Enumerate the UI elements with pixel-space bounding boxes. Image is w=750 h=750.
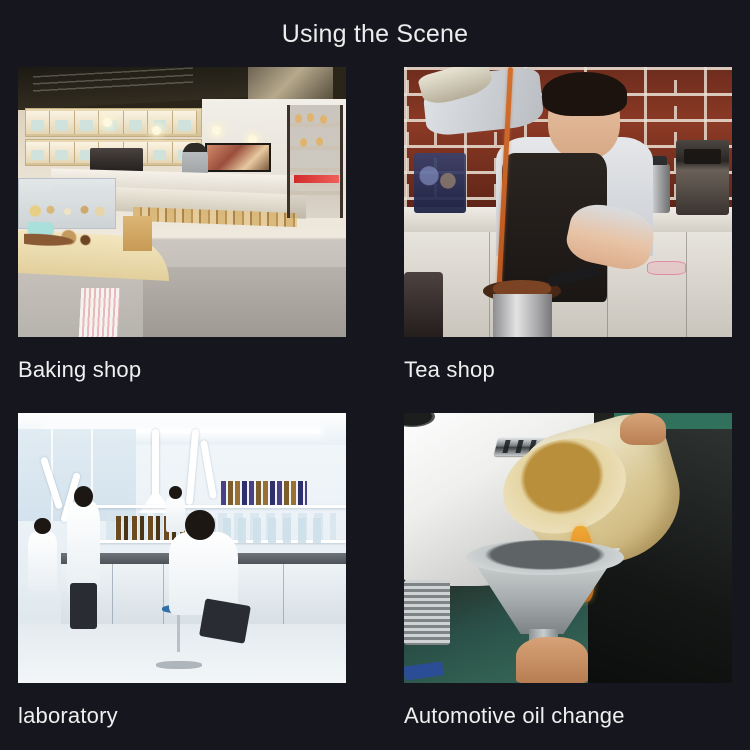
- researcher-legs: [70, 583, 96, 629]
- metal-canister: [493, 294, 552, 337]
- researcher-lab-coat: [28, 532, 58, 591]
- scene-label-laboratory: laboratory: [18, 703, 346, 729]
- researcher-lab-coat: [166, 497, 186, 532]
- baking-shop-photo-art: [18, 67, 346, 337]
- scene-label-automotive-oil-change: Automotive oil change: [404, 703, 732, 729]
- fume-extraction-arm: [152, 429, 159, 499]
- red-signage: [294, 175, 340, 183]
- pink-sticker: [647, 261, 686, 275]
- funnel-rim: [466, 540, 623, 575]
- scene-card-tea-shop[interactable]: Tea shop: [404, 67, 732, 383]
- dark-container: [404, 272, 443, 337]
- tea-shop-photo-art: [404, 67, 732, 337]
- scene-showcase-page: Using the Scene: [0, 0, 750, 750]
- suspension-spring: [404, 580, 450, 645]
- barista-hair: [542, 72, 627, 115]
- seated-researcher-head: [185, 510, 215, 540]
- wall-screen: [205, 143, 271, 173]
- oil-change-photo-art: [404, 413, 732, 683]
- scene-card-automotive-oil-change[interactable]: Automotive oil change: [404, 413, 732, 729]
- seated-researcher-legs: [199, 598, 251, 643]
- gripping-hand: [620, 413, 666, 445]
- blue-glass-jars: [414, 153, 466, 212]
- stool-base: [156, 661, 202, 669]
- scene-label-baking-shop: Baking shop: [18, 357, 346, 383]
- scene-image-laboratory[interactable]: [18, 413, 346, 683]
- fume-extraction-arm: [200, 440, 217, 500]
- striped-towel: [79, 288, 121, 337]
- concrete-floor: [143, 267, 346, 337]
- reagent-shelf-upper: [70, 505, 346, 508]
- supporting-hand: [516, 637, 588, 683]
- scene-grid: Baking shop: [18, 67, 732, 732]
- lab-floor: [18, 624, 346, 683]
- scene-card-baking-shop[interactable]: Baking shop: [18, 67, 346, 383]
- scene-image-automotive-oil-change[interactable]: [404, 413, 732, 683]
- bread-rack: [287, 105, 343, 218]
- pendant-lamp: [212, 126, 221, 135]
- scene-image-tea-shop[interactable]: [404, 67, 732, 337]
- scene-image-baking-shop[interactable]: [18, 67, 346, 337]
- page-title: Using the Scene: [0, 19, 750, 49]
- researcher-lab-coat: [67, 502, 100, 594]
- scene-card-laboratory[interactable]: laboratory: [18, 413, 346, 729]
- reagent-bottles: [221, 481, 306, 505]
- paper-bag: [123, 216, 153, 251]
- coffee-brewer: [676, 140, 728, 216]
- scene-label-tea-shop: Tea shop: [404, 357, 732, 383]
- coffee-machine: [90, 148, 142, 172]
- blue-part: [404, 661, 444, 680]
- laboratory-photo-art: [18, 413, 346, 683]
- upper-shelf: [25, 108, 202, 138]
